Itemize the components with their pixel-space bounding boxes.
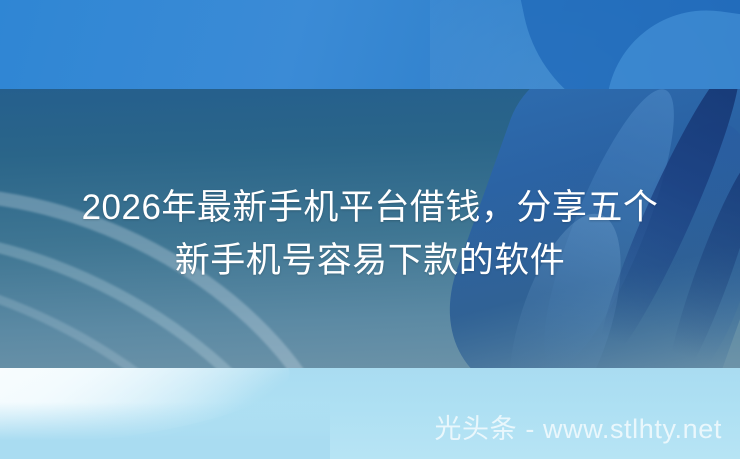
top-blue-band [0,0,740,89]
poster-headline: 2026年最新手机平台借钱，分享五个 新手机号容易下款的软件 [0,181,740,287]
site-watermark: 光头条 - www.stlhty.net [0,412,722,446]
poster-canvas: 2026年最新手机平台借钱，分享五个 新手机号容易下款的软件 光头条 - www… [0,0,740,459]
